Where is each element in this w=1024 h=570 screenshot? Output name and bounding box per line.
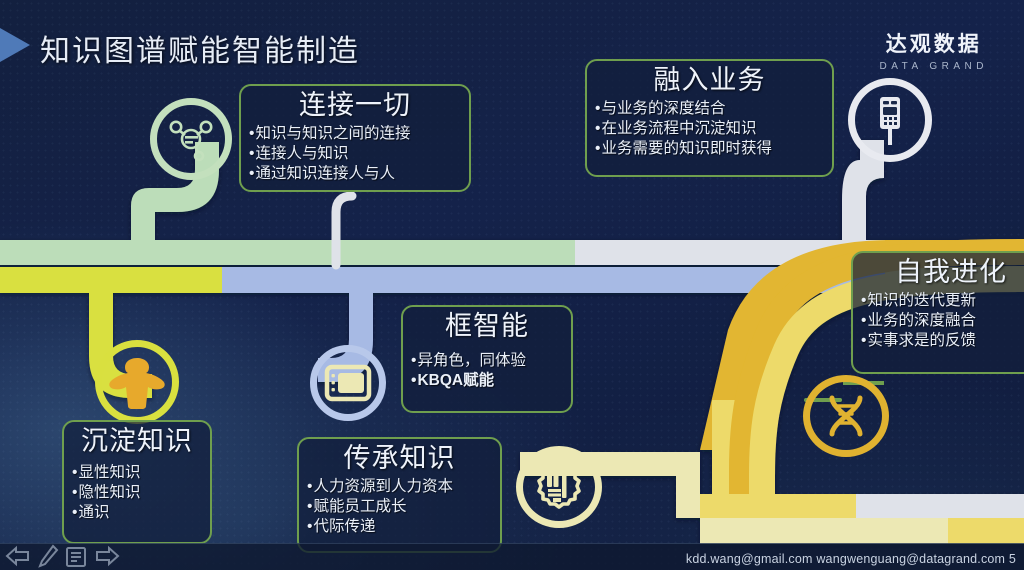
card-bullets: 知识与知识之间的连接 连接人与知识 通过知识连接人与人 [249, 124, 461, 185]
dna-helix-icon [820, 392, 872, 440]
card-bullet: 异角色，同体验 [411, 351, 563, 371]
card-connect-everything[interactable]: 连接一切 知识与知识之间的连接 连接人与知识 通过知识连接人与人 [239, 84, 471, 192]
card-bullets: 显性知识 隐性知识 通识 [72, 463, 202, 524]
card-integrate-business[interactable]: 融入业务 与业务的深度结合 在业务流程中沉淀知识 业务需要的知识即时获得 [585, 59, 834, 177]
badge-person-figure[interactable] [95, 340, 179, 424]
card-bullet: 知识与知识之间的连接 [249, 124, 461, 144]
presenter-nav-icons[interactable] [4, 544, 121, 570]
card-bullet: 显性知识 [72, 463, 202, 483]
screen-window-icon [324, 364, 372, 402]
slide-canvas: 知识图谱赋能智能制造 达观数据 DATA GRAND [0, 0, 1024, 570]
card-bullet: KBQA赋能 [411, 371, 563, 391]
card-bullet: 连接人与知识 [249, 144, 461, 164]
person-figure-icon [108, 354, 166, 410]
card-bullet: 人力资源到人力资本 [307, 477, 492, 497]
pen-icon[interactable] [37, 544, 59, 570]
badge-dna-helix[interactable] [803, 375, 889, 457]
notes-icon[interactable] [64, 544, 88, 570]
card-precipitate-knowledge[interactable]: 沉淀知识 显性知识 隐性知识 通识 [62, 420, 212, 544]
card-title: 连接一切 [249, 90, 461, 122]
scanner-device-icon [867, 93, 913, 147]
card-bullet: 在业务流程中沉淀知识 [595, 119, 824, 139]
undo-arrow-icon[interactable] [4, 544, 32, 570]
card-bullet: 与业务的深度结合 [595, 99, 824, 119]
network-nodes-icon [166, 114, 216, 164]
badge-scanner-device[interactable] [848, 78, 932, 162]
brand-logo: 达观数据 DATA GRAND [879, 28, 988, 72]
card-inherit-knowledge[interactable]: 传承知识 人力资源到人力资本 赋能员工成长 代际传递 [297, 437, 502, 553]
card-self-evolution[interactable]: 自我进化 知识的迭代更新 业务的深度融合 实事求是的反馈 [851, 251, 1024, 374]
card-title: 传承知识 [307, 443, 492, 475]
gear-factory-icon [532, 461, 586, 513]
badge-network-nodes[interactable] [150, 98, 232, 180]
card-title: 自我进化 [861, 257, 1024, 289]
footer-credits: kdd.wang@gmail.com wangwenguang@datagran… [686, 552, 1016, 566]
card-bullets: 异角色，同体验 KBQA赋能 [411, 351, 563, 392]
card-bullets: 与业务的深度结合 在业务流程中沉淀知识 业务需要的知识即时获得 [595, 99, 824, 160]
card-bullet: 业务的深度融合 [861, 311, 1024, 331]
card-bullet: 代际传递 [307, 517, 492, 537]
card-bullet: 知识的迭代更新 [861, 291, 1024, 311]
redo-arrow-icon[interactable] [93, 544, 121, 570]
card-bullet: 赋能员工成长 [307, 497, 492, 517]
card-frame-intelligence[interactable]: 框智能 异角色，同体验 KBQA赋能 [401, 305, 573, 413]
card-title: 沉淀知识 [72, 426, 202, 458]
card-title: 框智能 [411, 311, 563, 343]
logo-cn: 达观数据 [879, 28, 988, 58]
logo-en: DATA GRAND [879, 61, 988, 72]
triangle-right-icon [0, 28, 30, 62]
badge-gear-factory[interactable] [516, 446, 602, 528]
card-bullet: 隐性知识 [72, 483, 202, 503]
card-bullet: 通识 [72, 503, 202, 523]
badge-screen-window[interactable] [310, 345, 386, 421]
card-bullets: 人力资源到人力资本 赋能员工成长 代际传递 [307, 477, 492, 538]
card-bullets: 知识的迭代更新 业务的深度融合 实事求是的反馈 [861, 291, 1024, 352]
card-title: 融入业务 [595, 65, 824, 97]
card-bullet: 业务需要的知识即时获得 [595, 139, 824, 159]
page-title: 知识图谱赋能智能制造 [40, 26, 360, 70]
card-bullet: 实事求是的反馈 [861, 331, 1024, 351]
card-bullet: 通过知识连接人与人 [249, 164, 461, 184]
